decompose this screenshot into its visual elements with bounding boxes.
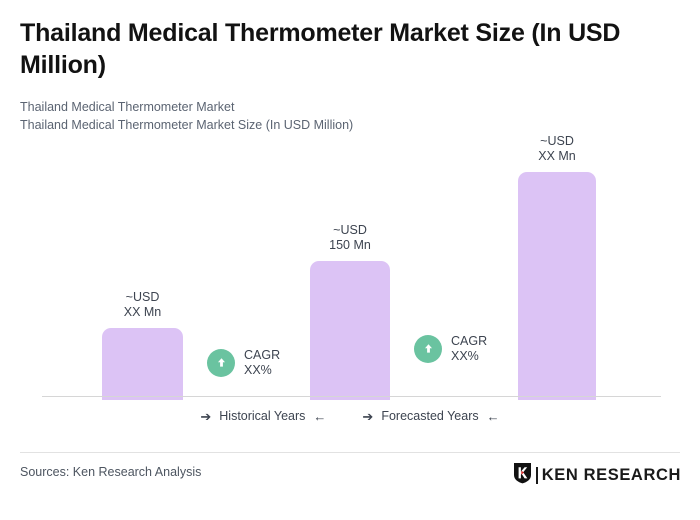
arrow-up-icon	[207, 349, 235, 377]
page-title: Thailand Medical Thermometer Market Size…	[20, 18, 670, 81]
bar-label-forecast-line2: XX Mn	[538, 149, 576, 164]
bar-rect-forecast	[518, 172, 596, 400]
legend-item-historical-years: ➔ Historical Years ←	[200, 409, 326, 423]
legend-label-historical-years: Historical Years	[219, 409, 305, 423]
axis-baseline	[42, 396, 661, 397]
cagr-historical-line1: CAGR	[244, 348, 280, 363]
bar-label-historical-line1: ~USD	[124, 290, 162, 305]
ken-research-logo: KEN RESEARCH	[513, 462, 681, 489]
footer-divider	[20, 452, 680, 453]
bar-label-forecast-line1: ~USD	[538, 134, 576, 149]
bar-historical[interactable]: ~USD XX Mn	[102, 328, 183, 400]
plot-area: ~USD XX Mn ~USD 150 Mn ~USD XX Mn	[0, 110, 700, 400]
bar-label-base: ~USD 150 Mn	[329, 223, 371, 252]
bar-forecast[interactable]: ~USD XX Mn	[518, 172, 596, 400]
bar-base[interactable]: ~USD 150 Mn	[310, 261, 390, 400]
cagr-text-historical: CAGR XX%	[244, 348, 280, 377]
logo-divider	[536, 467, 538, 484]
bar-label-historical: ~USD XX Mn	[124, 290, 162, 319]
arrow-left-icon: ←	[313, 410, 326, 423]
cagr-historical-line2: XX%	[244, 363, 280, 378]
arrow-up-icon	[414, 335, 442, 363]
legend-item-forecasted-years: ➔ Forecasted Years ←	[362, 409, 499, 423]
sources-text: Sources: Ken Research Analysis	[20, 465, 201, 479]
arrow-right-icon: ➔	[362, 410, 373, 423]
bar-label-base-line2: 150 Mn	[329, 238, 371, 253]
arrow-left-icon: ←	[487, 410, 500, 423]
bar-label-forecast: ~USD XX Mn	[538, 134, 576, 163]
cagr-forecast-line1: CAGR	[451, 334, 487, 349]
shield-k-icon	[513, 462, 532, 489]
cagr-forecast-line2: XX%	[451, 349, 487, 364]
bar-rect-historical	[102, 328, 183, 400]
bar-label-historical-line2: XX Mn	[124, 305, 162, 320]
legend-label-forecasted-years: Forecasted Years	[381, 409, 478, 423]
cagr-badge-forecast: CAGR XX%	[414, 334, 487, 363]
cagr-badge-historical: CAGR XX%	[207, 348, 280, 377]
brand-wordmark: KEN RESEARCH	[542, 467, 681, 484]
period-legend: ➔ Historical Years ← ➔ Forecasted Years …	[0, 409, 700, 423]
chart-card: Thailand Medical Thermometer Market Size…	[0, 0, 700, 520]
arrow-right-icon: ➔	[200, 410, 211, 423]
cagr-text-forecast: CAGR XX%	[451, 334, 487, 363]
bar-rect-base	[310, 261, 390, 400]
bar-label-base-line1: ~USD	[329, 223, 371, 238]
